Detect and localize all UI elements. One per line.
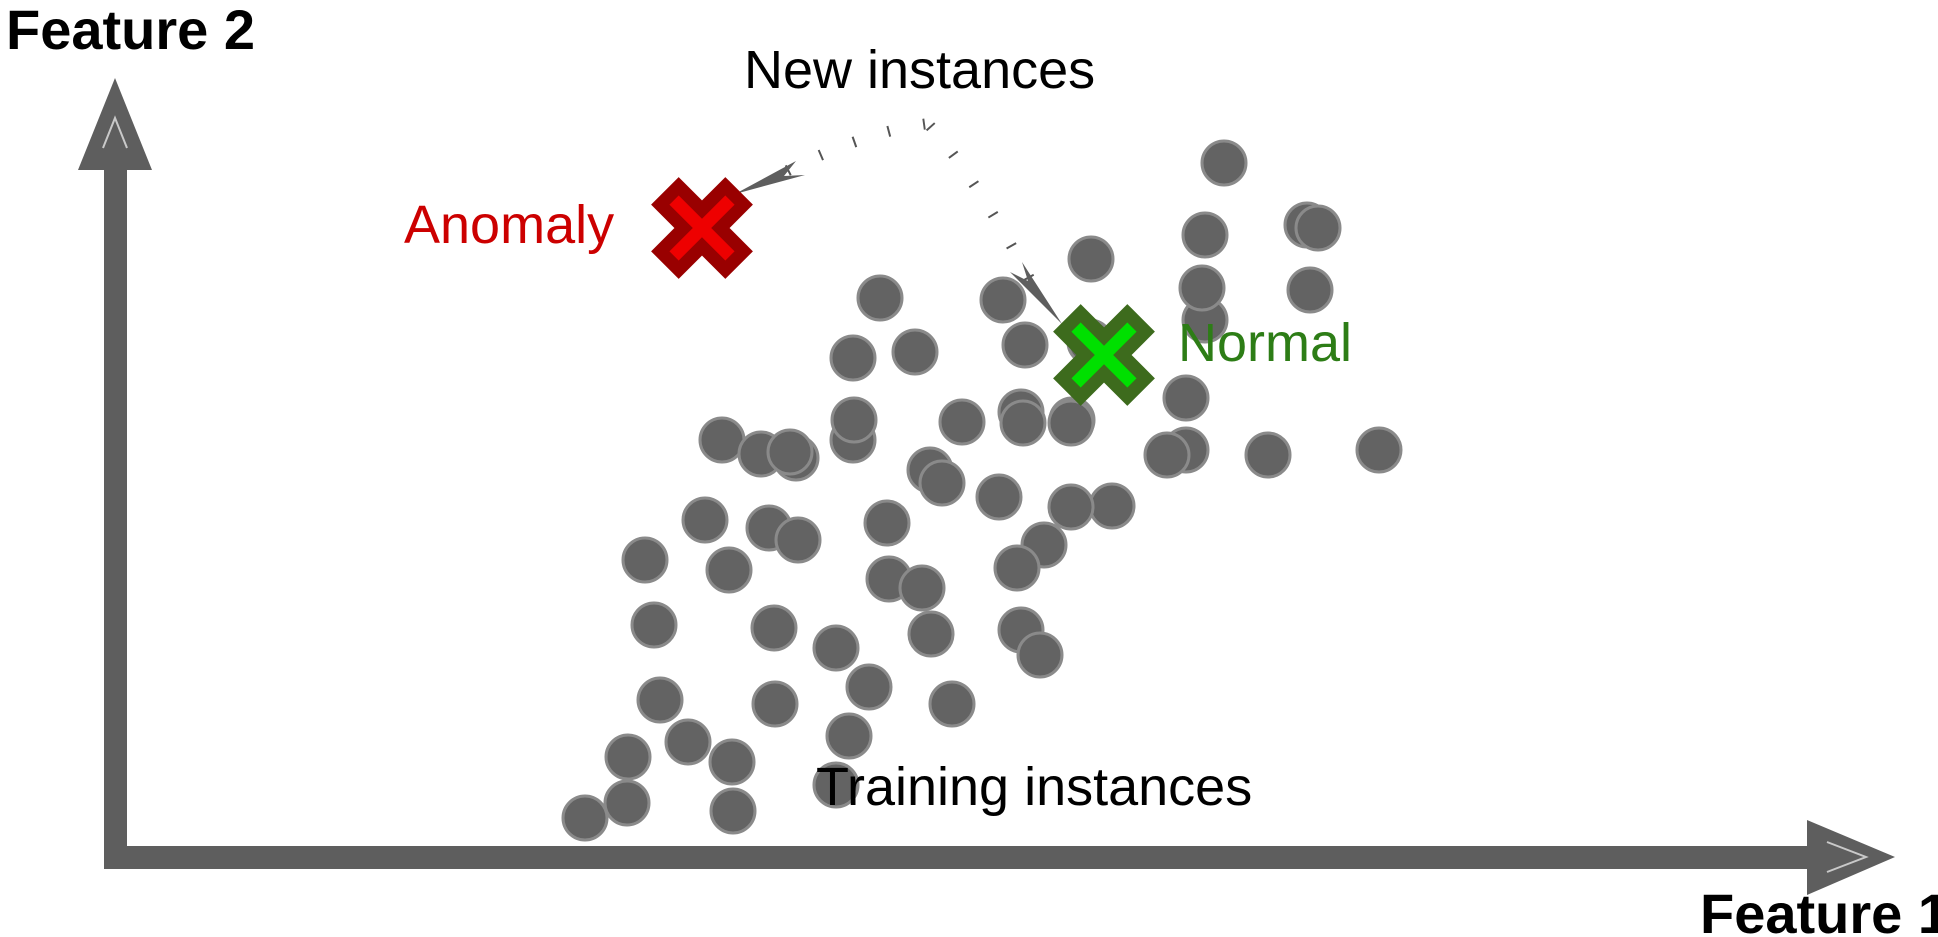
training-instance-dot	[1090, 484, 1134, 528]
training-instance-dot	[1018, 633, 1062, 677]
training-instance-dot	[1001, 401, 1045, 445]
dotted-path-to-anomaly	[770, 124, 925, 180]
training-instance-dot	[831, 336, 875, 380]
training-instance-dot	[1164, 376, 1208, 420]
training-instance-dot	[700, 418, 744, 462]
training-instance-dot	[1049, 401, 1093, 445]
training-instance-dot	[1357, 428, 1401, 472]
training-instance-dot	[710, 740, 754, 784]
training-instance-dot	[827, 714, 871, 758]
training-instance-dot	[930, 682, 974, 726]
training-instance-dot	[893, 330, 937, 374]
new-instances-annotation: New instances	[744, 43, 1095, 97]
training-instance-dot	[623, 538, 667, 582]
anomaly-x-marker-icon[interactable]	[637, 163, 767, 293]
training-instance-dot	[865, 501, 909, 545]
training-instance-dot	[1202, 141, 1246, 185]
training-instance-dot	[1296, 206, 1340, 250]
training-instance-dot	[1183, 213, 1227, 257]
training-instance-dot	[666, 720, 710, 764]
y-axis-title: Feature 2	[6, 2, 255, 58]
training-instance-dot	[753, 682, 797, 726]
training-instance-dot	[1049, 485, 1093, 529]
training-instance-dot	[711, 789, 755, 833]
training-instance-dot	[981, 278, 1025, 322]
training-instance-dot	[1145, 433, 1189, 477]
training-instance-dot	[768, 430, 812, 474]
training-instance-dot	[900, 566, 944, 610]
training-instance-dot	[1246, 433, 1290, 477]
training-instance-dot	[776, 518, 820, 562]
training-instance-dot	[1069, 237, 1113, 281]
training-instance-dot	[920, 461, 964, 505]
training-instance-dot	[1180, 266, 1224, 310]
training-instance-dot	[909, 612, 953, 656]
training-instance-dot	[1003, 323, 1047, 367]
training-instance-dot	[832, 398, 876, 442]
anomaly-annotation: Anomaly	[404, 198, 614, 252]
training-instance-dot	[752, 606, 796, 650]
training-instance-dot	[605, 781, 649, 825]
training-instance-dot	[638, 678, 682, 722]
training-instance-dot	[940, 400, 984, 444]
training-instance-dot	[995, 546, 1039, 590]
y-axis-line	[104, 110, 127, 858]
training-instance-dot	[707, 548, 751, 592]
dotted-path-to-normal	[930, 126, 1044, 306]
normal-annotation: Normal	[1178, 316, 1352, 370]
training-instance-dot	[632, 603, 676, 647]
training-instances-annotation: Training instances	[816, 760, 1252, 814]
training-instance-dot	[858, 276, 902, 320]
arrowhead-anomaly-icon	[735, 161, 805, 194]
y-axis-arrowhead	[78, 78, 152, 170]
training-instance-dot	[606, 735, 650, 779]
training-instance-dot	[1288, 268, 1332, 312]
training-instance-dot	[977, 475, 1021, 519]
training-instance-dot	[814, 626, 858, 670]
training-instance-dot	[847, 665, 891, 709]
x-axis-line	[104, 846, 1864, 869]
figure-canvas: Feature 2 Feature 1 New instances Traini…	[0, 0, 1938, 937]
normal-x-marker-icon[interactable]	[1039, 290, 1169, 420]
training-instance-dot	[563, 796, 607, 840]
x-axis-title: Feature 1	[1700, 886, 1938, 937]
training-instance-dot	[683, 498, 727, 542]
